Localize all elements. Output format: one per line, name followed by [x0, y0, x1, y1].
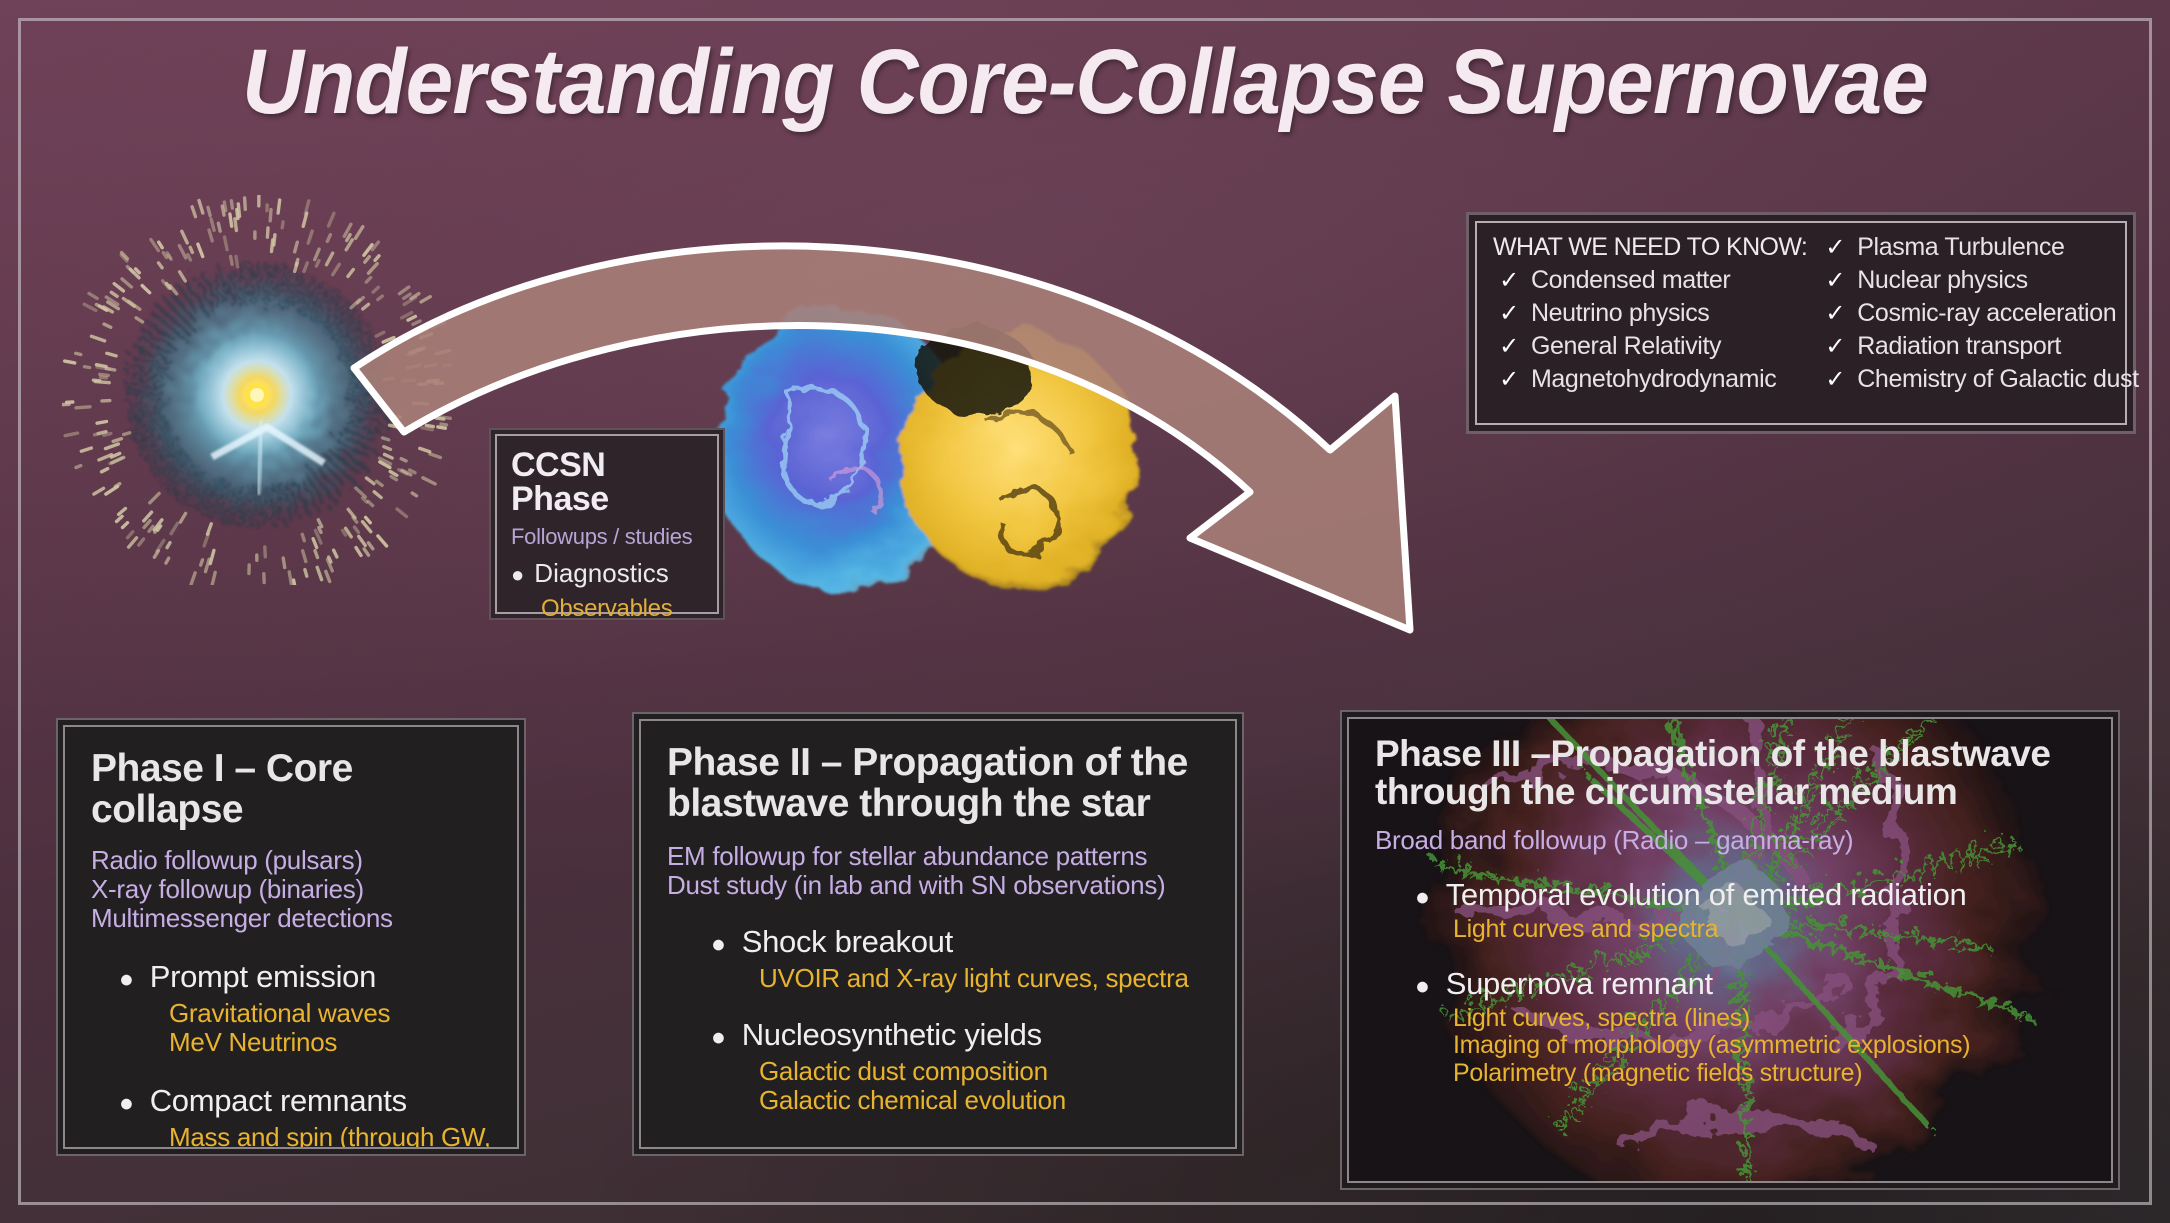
phase-title: Phase I – Core collapse	[91, 749, 491, 830]
phase-bullet-label: Temporal evolution of emitted radiation	[1446, 877, 1967, 913]
phase-observable-line: Gravitational waves	[169, 999, 491, 1028]
phase-bullet: ● Temporal evolution of emitted radiatio…	[1375, 877, 2087, 913]
phase-bullet-label: Compact remnants	[150, 1083, 407, 1119]
phase-bullet: ● Nucleosynthetic yields	[667, 1017, 1209, 1053]
know-item-label: Plasma Turbulence	[1857, 233, 2064, 262]
bullet-dot-icon: ●	[1415, 975, 1430, 1000]
legend-observables: Observables	[511, 595, 703, 623]
know-item: ✓ Nuclear physics	[1825, 266, 2138, 295]
check-icon: ✓	[1499, 365, 1519, 394]
bullet-dot-icon: ●	[1415, 886, 1430, 911]
poster-canvas: WHAT WE NEED TO KNOW: ✓ Condensed matter…	[0, 0, 2170, 1223]
know-heading: WHAT WE NEED TO KNOW:	[1493, 233, 1807, 262]
phase-title: Phase III –Propagation of the blastwave …	[1375, 735, 2087, 812]
know-item: ✓ Cosmic-ray acceleration	[1825, 299, 2138, 328]
bullet-dot-icon: ●	[119, 968, 134, 993]
phase-followup-line: Radio followup (pulsars)	[91, 846, 491, 875]
phase-bullet-label: Shock breakout	[742, 924, 953, 960]
phase-followups: Broad band followup (Radio – gamma-ray)	[1375, 826, 2087, 855]
check-icon: ✓	[1825, 365, 1845, 394]
phase-observable-line: Mass and spin (through GW,	[169, 1123, 491, 1149]
what-we-need-to-know-box: WHAT WE NEED TO KNOW: ✓ Condensed matter…	[1466, 212, 2136, 434]
legend-title: CCSN Phase	[511, 448, 703, 516]
phase-1-box: Phase I – Core collapse Radio followup (…	[56, 718, 526, 1156]
know-item-label: Cosmic-ray acceleration	[1857, 299, 2116, 328]
know-item: ✓ Condensed matter	[1493, 266, 1807, 295]
know-item-label: Chemistry of Galactic dust	[1857, 365, 2138, 394]
phase-observable-line: Galactic chemical evolution	[759, 1086, 1209, 1115]
know-item: ✓ Magnetohydrodynamic	[1493, 365, 1807, 394]
phase-bullet: ● Compact remnants	[91, 1083, 491, 1119]
know-item-label: Nuclear physics	[1857, 266, 2027, 295]
know-item: ✓ Radiation transport	[1825, 332, 2138, 361]
check-icon: ✓	[1499, 332, 1519, 361]
phase-bullet-label: Prompt emission	[150, 959, 376, 995]
know-item: ✓ Chemistry of Galactic dust	[1825, 365, 2138, 394]
phase-followups: Radio followup (pulsars) X-ray followup …	[91, 846, 491, 933]
phase-observable-line: Light curves, spectra (lines)	[1453, 1005, 2087, 1033]
bullet-dot-icon: ●	[711, 933, 726, 958]
check-icon: ✓	[1825, 332, 1845, 361]
page-title: Understanding Core-Collapse Supernovae	[76, 36, 2094, 128]
phase-observables: Light curves and spectra	[1375, 916, 2087, 944]
phase-observable-line: UVOIR and X-ray light curves, spectra	[759, 964, 1209, 993]
phase-followup-line: Broad band followup (Radio – gamma-ray)	[1375, 826, 2087, 855]
bullet-dot-icon: ●	[119, 1092, 134, 1117]
know-item-label: Condensed matter	[1531, 266, 1730, 295]
ccsn-phase-legend-box: CCSN Phase Followups / studies ● Diagnos…	[489, 428, 725, 620]
know-item: ✓ General Relativity	[1493, 332, 1807, 361]
bullet-dot-icon: ●	[711, 1026, 726, 1051]
phase-observable-line: MeV Neutrinos	[169, 1028, 491, 1057]
know-column-right: ✓ Plasma Turbulence ✓ Nuclear physics ✓ …	[1825, 233, 2138, 415]
phase-observable-line: Imaging of morphology (asymmetric explos…	[1453, 1032, 2087, 1060]
check-icon: ✓	[1825, 299, 1845, 328]
phase-observables: Light curves, spectra (lines) Imaging of…	[1375, 1005, 2087, 1088]
phase-bullet-label: Nucleosynthetic yields	[742, 1017, 1042, 1053]
phase-observables: Gravitational waves MeV Neutrinos	[91, 999, 491, 1056]
phase-observable-line: Galactic dust composition	[759, 1057, 1209, 1086]
phase-followup-line: EM followup for stellar abundance patter…	[667, 842, 1209, 871]
check-icon: ✓	[1825, 233, 1845, 262]
know-item: ✓ Plasma Turbulence	[1825, 233, 2138, 262]
phase-2-box: Phase II – Propagation of the blastwave …	[632, 712, 1244, 1156]
phase-bullet: ● Shock breakout	[667, 924, 1209, 960]
phase-followup-line: Multimessenger detections	[91, 904, 491, 933]
know-item-label: General Relativity	[1531, 332, 1721, 361]
phase-observable-line: Light curves and spectra	[1453, 916, 2087, 944]
phase-observables: Galactic dust composition Galactic chemi…	[667, 1057, 1209, 1114]
legend-subtitle: Followups / studies	[511, 524, 703, 550]
legend-bullet: ● Diagnostics	[511, 558, 703, 589]
phase-bullet-label: Supernova remnant	[1446, 966, 1713, 1002]
phase-followups: EM followup for stellar abundance patter…	[667, 842, 1209, 900]
phase-title: Phase II – Propagation of the blastwave …	[667, 743, 1209, 824]
know-item-label: Radiation transport	[1857, 332, 2061, 361]
know-item-label: Neutrino physics	[1531, 299, 1709, 328]
check-icon: ✓	[1499, 266, 1519, 295]
phase-followup-line: X-ray followup (binaries)	[91, 875, 491, 904]
know-item: ✓ Neutrino physics	[1493, 299, 1807, 328]
check-icon: ✓	[1499, 299, 1519, 328]
bullet-dot-icon: ●	[511, 562, 524, 588]
phase-bullet: ● Supernova remnant	[1375, 966, 2087, 1002]
phase-followup-line: Dust study (in lab and with SN observati…	[667, 871, 1209, 900]
legend-bullet-label: Diagnostics	[534, 558, 668, 589]
check-icon: ✓	[1825, 266, 1845, 295]
phase-observables: UVOIR and X-ray light curves, spectra	[667, 964, 1209, 993]
know-column-left: WHAT WE NEED TO KNOW: ✓ Condensed matter…	[1493, 233, 1807, 415]
phase-observables: Mass and spin (through GW, radio and X-r…	[91, 1123, 491, 1149]
phase-3-box: Phase III –Propagation of the blastwave …	[1340, 710, 2120, 1190]
phase-observable-line: Polarimetry (magnetic fields structure)	[1453, 1060, 2087, 1088]
know-item-label: Magnetohydrodynamic	[1531, 365, 1776, 394]
phase-bullet: ● Prompt emission	[91, 959, 491, 995]
